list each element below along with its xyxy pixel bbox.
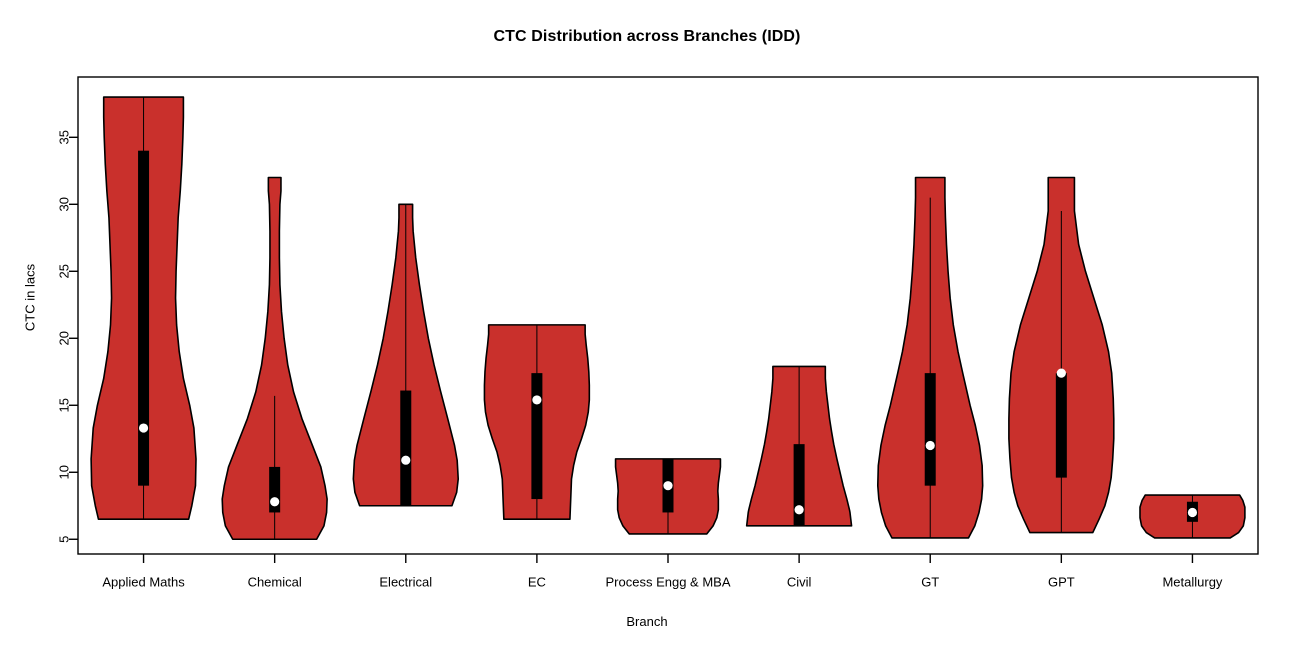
x-tick-label-electrical: Electrical xyxy=(379,575,432,590)
violin-median-dot xyxy=(1188,508,1197,517)
violin-ec[interactable] xyxy=(484,325,589,519)
violin-median-dot xyxy=(663,481,672,490)
y-tick-label: 25 xyxy=(57,264,72,278)
x-tick-label-civil: Civil xyxy=(787,575,812,590)
y-tick-label: 15 xyxy=(57,398,72,412)
violin-civil[interactable] xyxy=(747,366,852,525)
violin-median-dot xyxy=(270,497,279,506)
violin-median-dot xyxy=(1057,369,1066,378)
violin-chart-page: CTC Distribution across Branches (IDD) C… xyxy=(0,0,1294,653)
y-tick-label: 35 xyxy=(57,130,72,144)
violin-gt[interactable] xyxy=(878,177,983,537)
violin-gpt[interactable] xyxy=(1009,177,1114,532)
violin-iqr-box xyxy=(400,391,411,506)
violin-chemical[interactable] xyxy=(222,177,327,539)
violin-metallurgy[interactable] xyxy=(1140,495,1245,538)
violin-median-dot xyxy=(139,423,148,432)
violin-iqr-box xyxy=(1056,373,1067,478)
x-tick-label-ec: EC xyxy=(528,575,546,590)
plot-area: 5101520253035Applied MathsChemicalElectr… xyxy=(0,0,1294,653)
violins-group xyxy=(91,97,1245,539)
y-tick-label: 5 xyxy=(57,536,72,543)
x-tick-label-applied-maths: Applied Maths xyxy=(102,575,185,590)
x-tick-label-gt: GT xyxy=(921,575,939,590)
violin-median-dot xyxy=(926,441,935,450)
x-tick-label-chemical: Chemical xyxy=(248,575,302,590)
violin-median-dot xyxy=(532,395,541,404)
violin-applied-maths[interactable] xyxy=(91,97,196,519)
violin-median-dot xyxy=(401,456,410,465)
y-tick-label: 10 xyxy=(57,465,72,479)
violin-iqr-box xyxy=(531,373,542,499)
violin-iqr-box xyxy=(925,373,936,486)
violin-process-engg-mba[interactable] xyxy=(616,459,721,534)
x-tick-label-process-engg-mba: Process Engg & MBA xyxy=(606,575,731,590)
violin-iqr-box xyxy=(138,151,149,486)
x-tick-label-metallurgy: Metallurgy xyxy=(1162,575,1222,590)
x-tick-label-gpt: GPT xyxy=(1048,575,1075,590)
violin-median-dot xyxy=(795,505,804,514)
y-tick-label: 20 xyxy=(57,331,72,345)
y-tick-label: 30 xyxy=(57,197,72,211)
violin-electrical[interactable] xyxy=(353,204,458,505)
